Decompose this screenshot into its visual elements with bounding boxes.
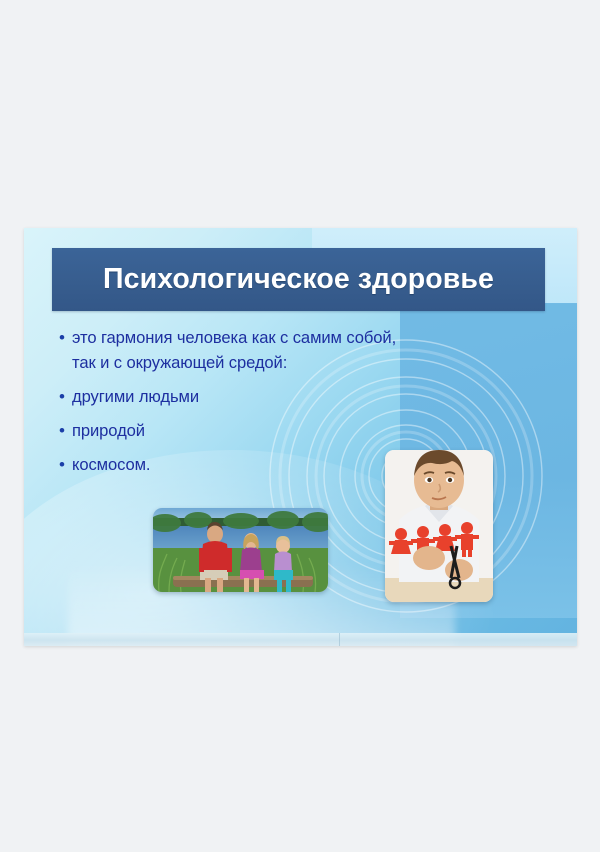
bullet-marker-icon: • [52,418,72,443]
list-item: • это гармония человека как с самим собо… [52,325,518,375]
slide-title-band: Психологическое здоровье [52,248,545,311]
list-item-label: другими людьми [72,384,199,409]
bullet-marker-icon: • [52,384,72,409]
bullet-marker-icon: • [52,452,72,477]
slide-bottom-seam [339,633,340,646]
list-item-line: так и с окружающей средой: [72,353,287,372]
list-item-line: это гармония человека как с самим собой, [72,328,396,347]
list-item: • природой [52,418,518,443]
page-title: Психологическое здоровье [103,263,494,296]
list-item-label: это гармония человека как с самим собой,… [72,325,396,375]
list-item-label: природой [72,418,145,443]
list-item: • другими людьми [52,384,518,409]
list-item-label: космосом. [72,452,150,477]
slide-bottom-band [24,633,577,646]
photo-three-children-on-log-by-lake [153,508,328,592]
presentation-slide: Психологическое здоровье • это гармония … [24,228,577,646]
photo-boy-cutting-paper-family-chain [385,450,493,602]
bullet-marker-icon: • [52,325,72,350]
